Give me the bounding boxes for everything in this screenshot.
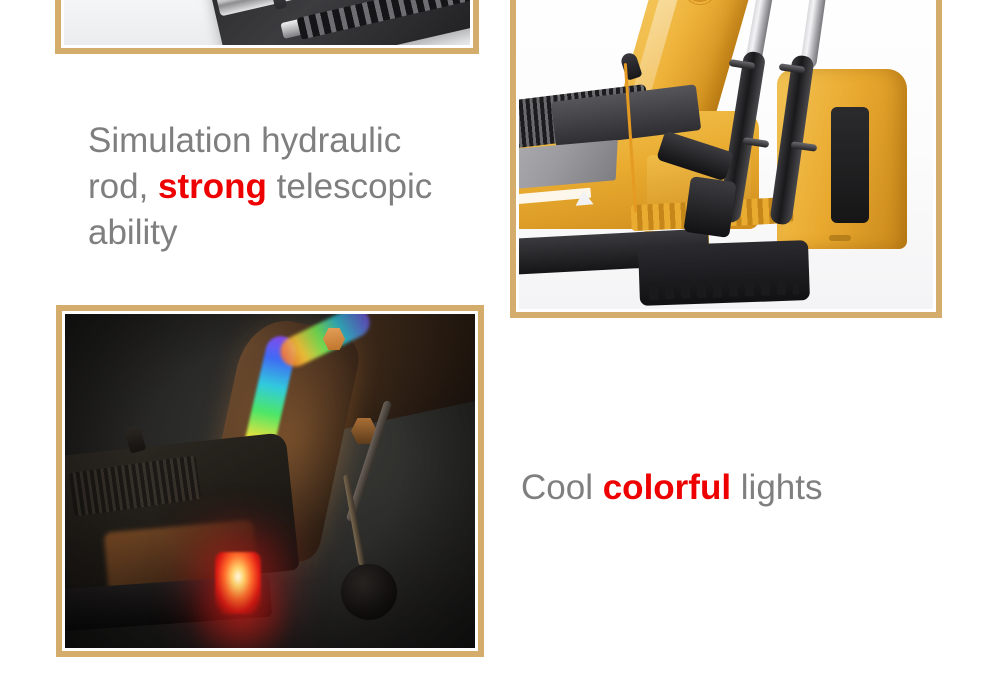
excavator-warning-triangle (574, 190, 593, 206)
red-led-headlight (215, 552, 261, 614)
photo-inner-excavator: ER (516, 0, 936, 312)
photo-frame-excavator: ER (510, 0, 942, 318)
photo-inner-chassis (61, 0, 473, 48)
photo-frame-chassis (55, 0, 479, 54)
excavator-cab-vent (829, 235, 851, 241)
caption-colorful-lights: Cool colorful lights (521, 465, 941, 511)
product-feature-page: ER (0, 0, 1000, 700)
photo-inner-night-lights (62, 311, 478, 651)
caption-lights-part-1: Cool (521, 468, 603, 507)
caption-hydraulic-highlight: strong (158, 167, 267, 206)
photo-chassis (64, 0, 470, 45)
caption-hydraulic-rod: Simulation hydraulic rod, strong telesco… (88, 118, 508, 257)
caption-lights-part-3: lights (731, 468, 822, 507)
excavator-cab-window (831, 107, 869, 223)
photo-night-lights (65, 314, 475, 648)
night-wheel (341, 564, 397, 620)
caption-lights-highlight: colorful (603, 468, 731, 507)
photo-excavator: ER (519, 0, 933, 309)
photo-frame-night-lights (56, 305, 484, 657)
excavator-linkage (683, 176, 736, 238)
